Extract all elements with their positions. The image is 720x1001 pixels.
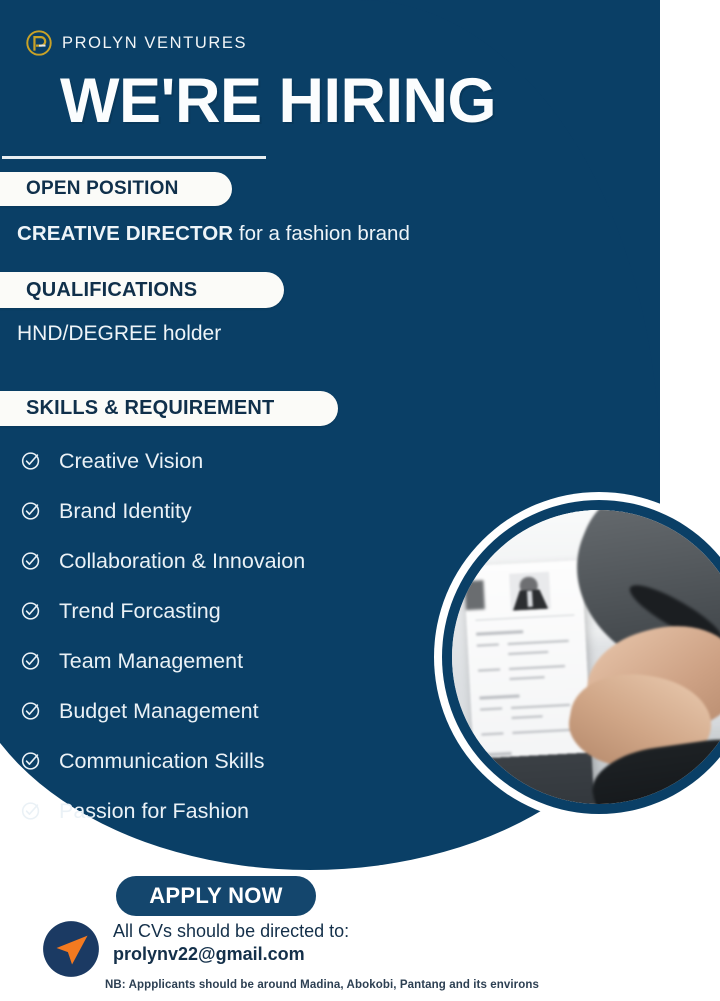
brand-logo: PROLYN VENTURES bbox=[26, 30, 247, 56]
skill-label: Brand Identity bbox=[59, 499, 192, 524]
badge-open-position: OPEN POSITION bbox=[0, 172, 232, 206]
handshake-with-resume-photo bbox=[452, 510, 720, 804]
skill-item: Brand Identity bbox=[20, 486, 305, 536]
check-circle-icon bbox=[20, 700, 42, 722]
check-circle-icon bbox=[20, 750, 42, 772]
badge-skills-requirement: SKILLS & REQUIREMENT bbox=[0, 391, 338, 426]
skill-label: Trend Forcasting bbox=[59, 599, 221, 624]
open-position-value: CREATIVE DIRECTOR for a fashion brand bbox=[17, 222, 410, 246]
badge-qualifications: QUALIFICATIONS bbox=[0, 272, 284, 308]
check-circle-icon bbox=[20, 500, 42, 522]
skill-item: Creative Vision bbox=[20, 436, 305, 486]
check-circle-icon bbox=[20, 600, 42, 622]
role-suffix: for a fashion brand bbox=[233, 222, 410, 245]
role-title: CREATIVE DIRECTOR bbox=[17, 222, 233, 245]
contact-email[interactable]: prolynv22@gmail.com bbox=[113, 943, 349, 966]
skill-item: Communication Skills bbox=[20, 736, 305, 786]
check-circle-icon bbox=[20, 800, 42, 822]
page-title: WE'RE HIRING bbox=[60, 70, 496, 133]
skills-list: Creative VisionBrand IdentityCollaborati… bbox=[20, 436, 305, 836]
skill-label: Budget Management bbox=[59, 699, 259, 724]
brand-name: PROLYN VENTURES bbox=[62, 34, 247, 53]
skill-label: Collaboration & Innovaion bbox=[59, 549, 305, 574]
skill-item: Budget Management bbox=[20, 686, 305, 736]
skill-label: Creative Vision bbox=[59, 449, 203, 474]
check-circle-icon bbox=[20, 650, 42, 672]
apply-now-button[interactable]: APPLY NOW bbox=[116, 876, 316, 916]
skill-item: Collaboration & Innovaion bbox=[20, 536, 305, 586]
cv-contact-block: All CVs should be directed to: prolynv22… bbox=[113, 920, 349, 966]
hiring-flyer: PROLYN VENTURES WE'RE HIRING OPEN POSITI… bbox=[0, 0, 720, 1001]
skill-item: Trend Forcasting bbox=[20, 586, 305, 636]
skill-label: Team Management bbox=[59, 649, 243, 674]
check-circle-icon bbox=[20, 550, 42, 572]
title-divider bbox=[2, 156, 266, 159]
send-arrow-icon bbox=[40, 918, 102, 980]
skill-label: Communication Skills bbox=[59, 749, 265, 774]
cv-instruction: All CVs should be directed to: bbox=[113, 920, 349, 943]
qualifications-value: HND/DEGREE holder bbox=[17, 322, 221, 346]
location-note: NB: Appplicants should be around Madina,… bbox=[105, 979, 539, 991]
prolyn-p-monogram-icon bbox=[26, 30, 52, 56]
skill-label: Passion for Fashion bbox=[59, 799, 249, 824]
skill-item: Team Management bbox=[20, 636, 305, 686]
check-circle-icon bbox=[20, 450, 42, 472]
skill-item: Passion for Fashion bbox=[20, 786, 305, 836]
